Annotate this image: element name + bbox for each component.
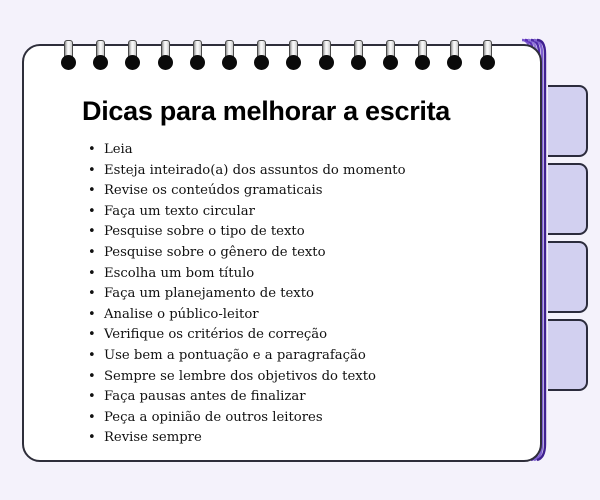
notebook-tab[interactable]	[548, 85, 588, 157]
tip-item: Pesquise sobre o gênero de texto	[84, 243, 406, 264]
tip-item: Sempre se lembre dos objetivos do texto	[84, 367, 406, 388]
tip-item: Faça um planejamento de texto	[84, 284, 406, 305]
spiral-ring	[96, 40, 105, 70]
spiral-ring	[257, 40, 266, 70]
spiral-ring	[289, 40, 298, 70]
tip-item: Use bem a pontuação e a paragrafação	[84, 346, 406, 367]
notebook-tab[interactable]	[548, 241, 588, 313]
tip-item: Esteja inteirado(a) dos assuntos do mome…	[84, 161, 406, 182]
tip-item: Pesquise sobre o tipo de texto	[84, 222, 406, 243]
spiral-ring-head	[222, 55, 237, 70]
notebook-tab[interactable]	[548, 319, 588, 391]
page-title: Dicas para melhorar a escrita	[82, 96, 450, 127]
spiral-ring-head	[351, 55, 366, 70]
spiral-ring-head	[383, 55, 398, 70]
spiral-ring	[161, 40, 170, 70]
tip-item: Analise o público-leitor	[84, 305, 406, 326]
spiral-ring	[354, 40, 363, 70]
tip-item: Revise os conteúdos gramaticais	[84, 181, 406, 202]
spiral-ring-head	[61, 55, 76, 70]
notebook-scene: Dicas para melhorar a escrita LeiaEsteja…	[0, 0, 600, 500]
spiral-ring	[386, 40, 395, 70]
spiral-ring	[483, 40, 492, 70]
page-content: Dicas para melhorar a escrita LeiaEsteja…	[24, 46, 540, 460]
spiral-ring	[418, 40, 427, 70]
tip-item: Verifique os critérios de correção	[84, 325, 406, 346]
tips-list: LeiaEsteja inteirado(a) dos assuntos do …	[84, 140, 406, 449]
spiral-ring	[128, 40, 137, 70]
spiral-ring	[322, 40, 331, 70]
spiral-ring	[225, 40, 234, 70]
tip-item: Peça a opinião de outros leitores	[84, 408, 406, 429]
spiral-ring-head	[190, 55, 205, 70]
spiral-ring	[64, 40, 73, 70]
spiral-ring-head	[158, 55, 173, 70]
spiral-ring-head	[319, 55, 334, 70]
notebook-tab[interactable]	[548, 163, 588, 235]
tip-item: Revise sempre	[84, 428, 406, 449]
spiral-ring	[193, 40, 202, 70]
spiral-ring-head	[480, 55, 495, 70]
tip-item: Faça pausas antes de finalizar	[84, 387, 406, 408]
tip-item: Faça um texto circular	[84, 202, 406, 223]
spiral-ring	[450, 40, 459, 70]
tip-item: Leia	[84, 140, 406, 161]
tip-item: Escolha um bom título	[84, 264, 406, 285]
